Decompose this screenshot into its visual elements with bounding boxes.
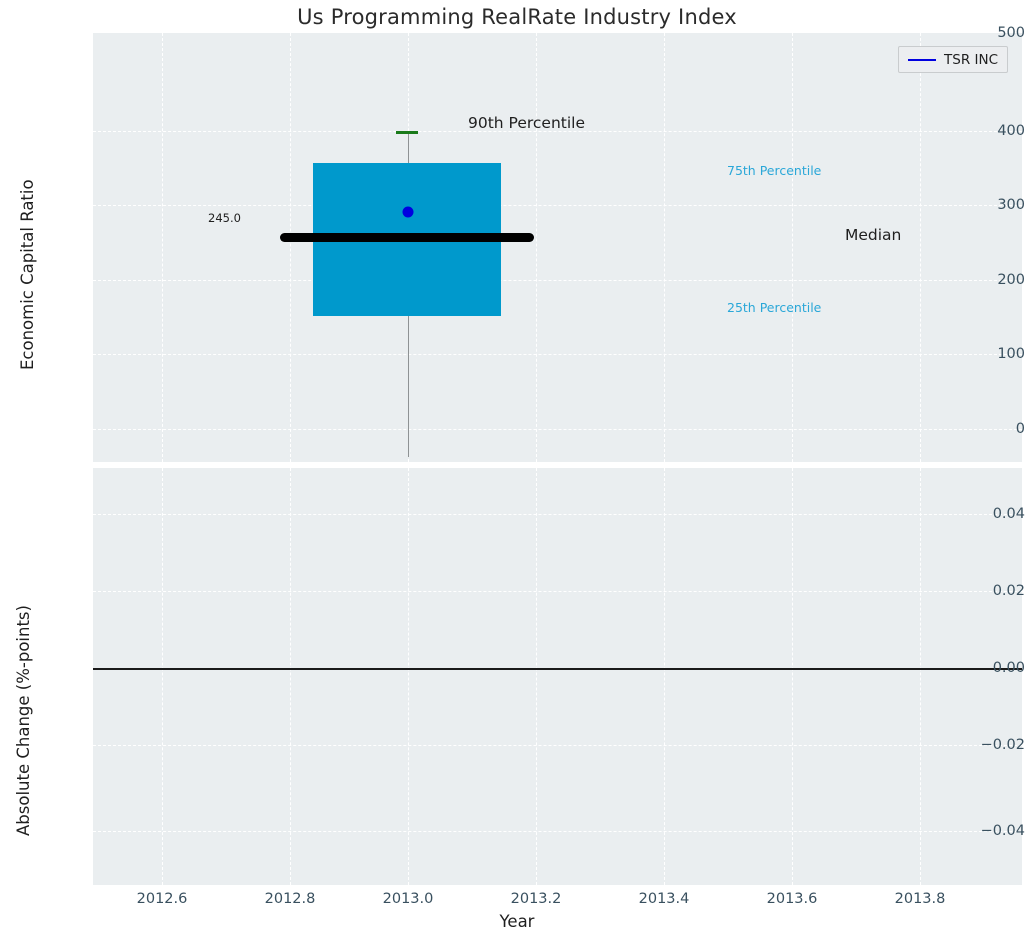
gridline-v [664, 468, 665, 885]
y-axis-label-lower: Absolute Change (%-points) [14, 605, 33, 836]
legend-item-label: TSR INC [944, 52, 998, 68]
ytick-top-100: 100 [950, 346, 1034, 362]
xtick-2013-2: 2013.2 [511, 891, 562, 907]
legend-line-icon [908, 59, 936, 61]
xtick-2013-8: 2013.8 [895, 891, 946, 907]
upper-panel-plot-area: 245.0 90th Percentile 75th Percentile 25… [93, 33, 1022, 462]
median-label: Median [845, 226, 901, 244]
ytick-bottom-004: 0.04 [950, 506, 1034, 522]
gridline-h [93, 831, 1022, 832]
ytick-top-200: 200 [950, 272, 1034, 288]
gridline-h [93, 745, 1022, 746]
gridline-v [920, 33, 921, 462]
gridline-v [792, 468, 793, 885]
gridline-v [290, 468, 291, 885]
gridline-h [93, 205, 1022, 206]
percentile-75-label: 75th Percentile [727, 163, 821, 178]
zero-reference-line [93, 668, 1022, 670]
gridline-v [162, 468, 163, 885]
median-value-label: 245.0 [208, 211, 241, 225]
gridline-v [920, 468, 921, 885]
gridline-h [93, 280, 1022, 281]
ytick-top-0: 0 [950, 421, 1034, 437]
gridline-h [93, 514, 1022, 515]
x-axis-label: Year [0, 912, 1034, 931]
ytick-top-400: 400 [950, 123, 1034, 139]
lower-panel-plot-area [93, 468, 1022, 885]
ytick-bottom-n002: −0.02 [950, 737, 1034, 753]
xtick-2013-0: 2013.0 [383, 891, 434, 907]
xtick-2013-4: 2013.4 [639, 891, 690, 907]
gridline-h [93, 591, 1022, 592]
xtick-2012-8: 2012.8 [265, 891, 316, 907]
gridline-v [408, 468, 409, 885]
percentile-25-label: 25th Percentile [727, 300, 821, 315]
gridline-v [290, 33, 291, 462]
y-axis-label-upper: Economic Capital Ratio [18, 179, 37, 370]
chart-title: Us Programming RealRate Industry Index [0, 5, 1034, 29]
gridline-v [536, 468, 537, 885]
ytick-top-500: 500 [950, 25, 1034, 41]
ytick-bottom-000: 0.00 [950, 660, 1034, 676]
percentile-90-label: 90th Percentile [468, 114, 585, 132]
chart-figure: Us Programming RealRate Industry Index 2… [0, 0, 1034, 942]
gridline-v [664, 33, 665, 462]
ytick-bottom-002: 0.02 [950, 583, 1034, 599]
gridline-v [536, 33, 537, 462]
median-line [280, 233, 534, 242]
gridline-h [93, 429, 1022, 430]
gridline-v [792, 33, 793, 462]
legend[interactable]: TSR INC [898, 46, 1008, 73]
xtick-2013-6: 2013.6 [767, 891, 818, 907]
tsr-inc-data-point[interactable] [403, 207, 414, 218]
gridline-v [162, 33, 163, 462]
percentile-90-cap-marker [396, 131, 418, 134]
gridline-h [93, 354, 1022, 355]
ytick-bottom-n004: −0.04 [950, 823, 1034, 839]
xtick-2012-6: 2012.6 [137, 891, 188, 907]
ytick-top-300: 300 [950, 197, 1034, 213]
